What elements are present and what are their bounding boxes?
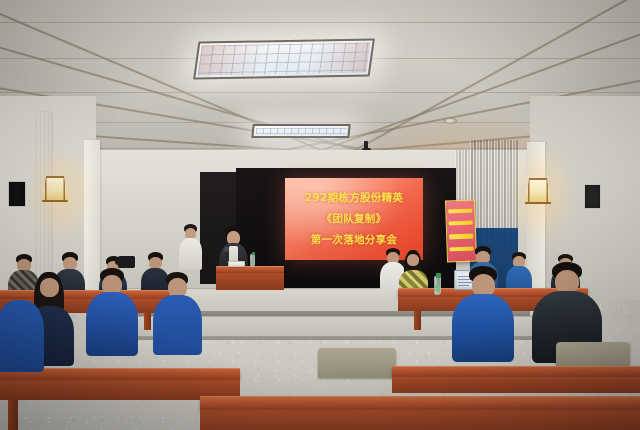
video-camera-lens	[115, 259, 121, 265]
panel-light-front	[193, 38, 375, 79]
wall-banner	[445, 199, 477, 262]
training-desk	[392, 366, 640, 406]
notebook	[228, 261, 245, 267]
screen-line-2: 《团队复制》	[285, 211, 423, 226]
panel-light-mid	[251, 124, 350, 138]
stage-table	[216, 266, 284, 290]
microphone-head	[224, 247, 229, 252]
water-bottle	[434, 276, 441, 295]
wall-sconce-left	[42, 176, 68, 202]
screen-line-3: 第一次落地分享会	[285, 232, 423, 247]
screen-line-1: 292期栋方股份精英	[285, 190, 423, 205]
audience-chair[interactable]	[318, 348, 396, 378]
ceiling-speaker	[444, 118, 457, 124]
wall-speaker-left	[8, 181, 26, 207]
wall-speaker-right	[584, 184, 601, 209]
wall-column-left	[84, 140, 100, 310]
wall-sconce-right	[525, 178, 551, 204]
water-bottle	[250, 254, 255, 267]
bottle-cap	[436, 273, 441, 278]
projection-screen: 292期栋方股份精英 《团队复制》 第一次落地分享会	[285, 178, 423, 260]
conference-room-photo: 292期栋方股份精英 《团队复制》 第一次落地分享会	[0, 0, 640, 430]
